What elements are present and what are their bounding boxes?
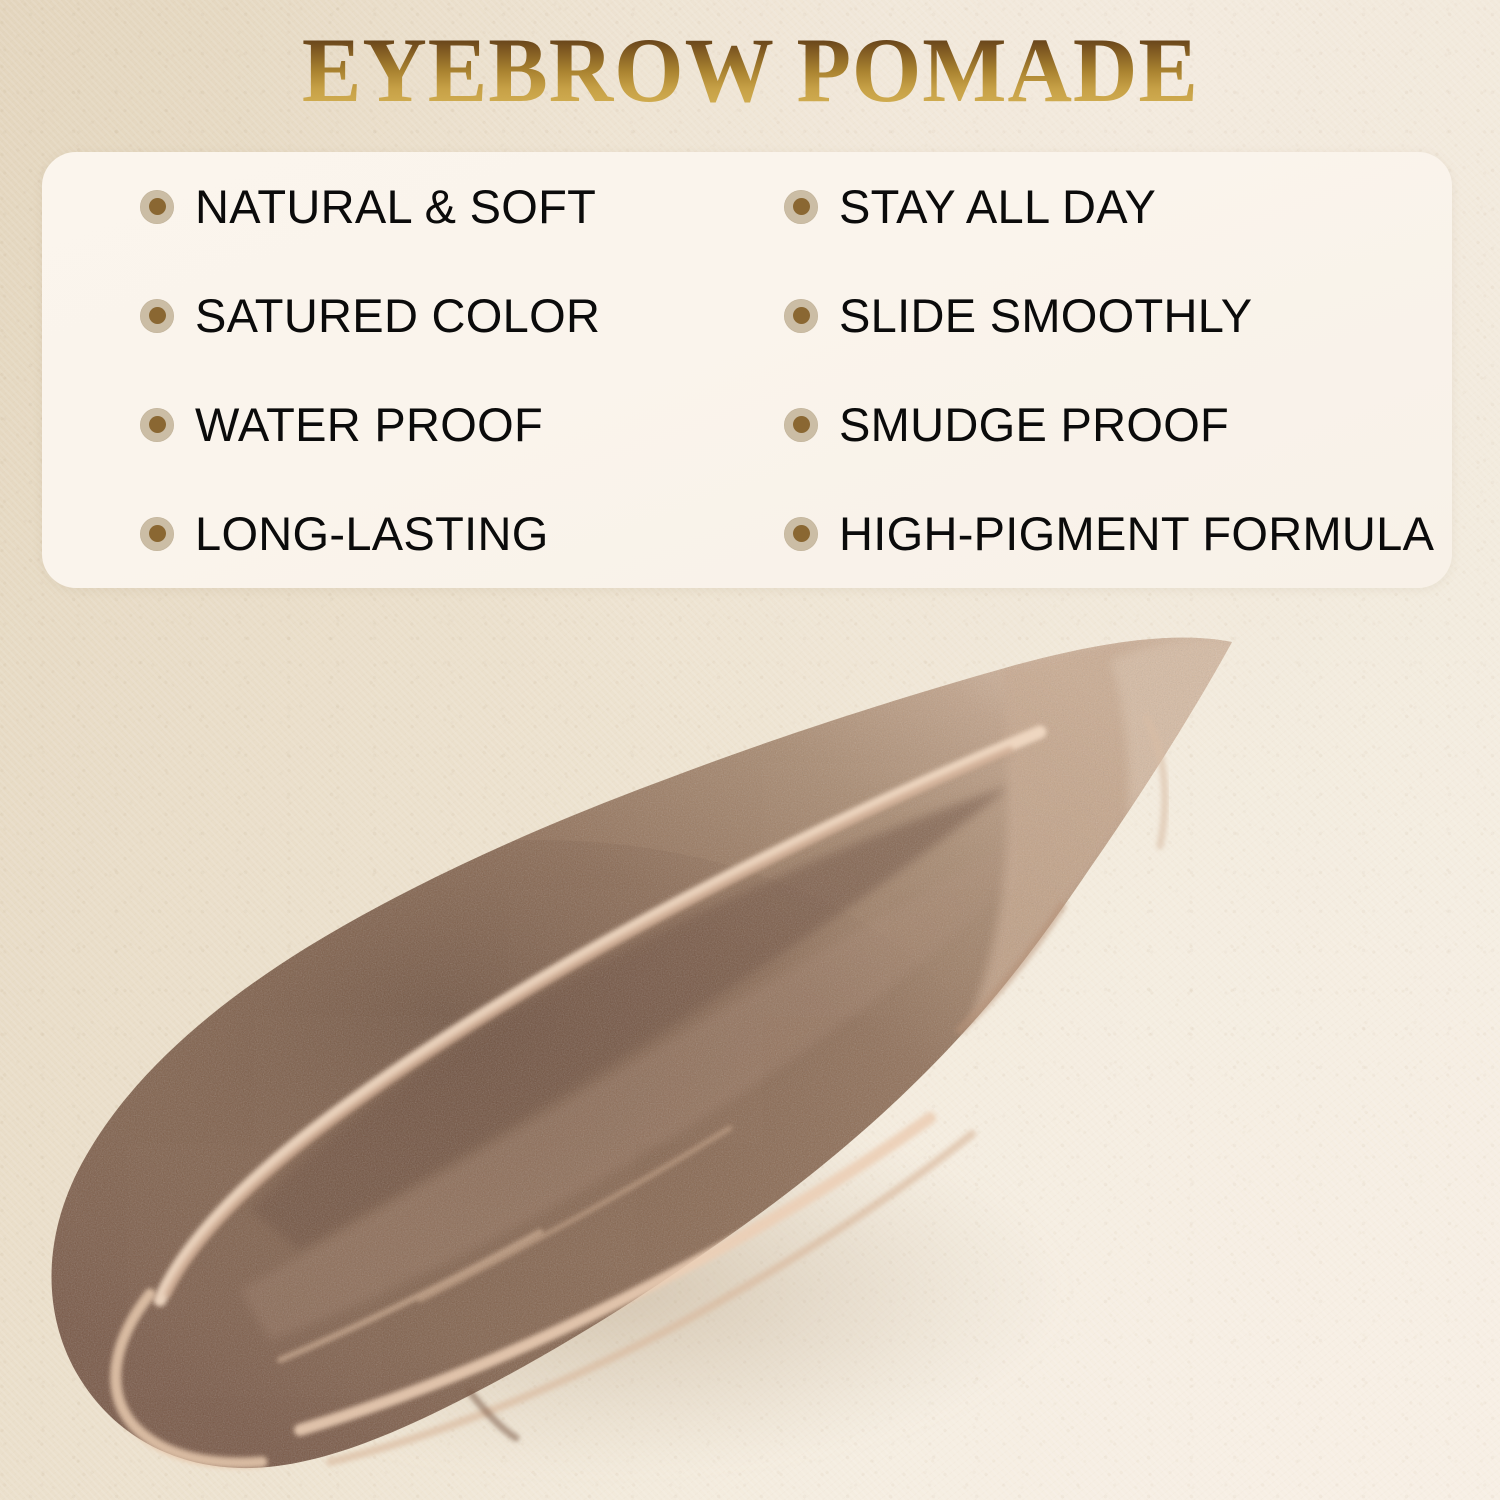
feature-label: SMUDGE PROOF [839, 401, 1229, 448]
bullet-dot-icon [140, 408, 174, 442]
feature-item-long-lasting: LONG-LASTING [42, 479, 732, 588]
feature-label: WATER PROOF [195, 401, 543, 448]
feature-item-natural-and-soft: NATURAL & SOFT [42, 152, 732, 261]
feature-label: SATURED COLOR [195, 292, 600, 339]
feature-label: SLIDE SMOOTHLY [839, 292, 1252, 339]
page-title-container: EYEBROW POMADE [0, 24, 1500, 116]
feature-label: HIGH-PIGMENT FORMULA [839, 510, 1434, 557]
feature-label: STAY ALL DAY [839, 183, 1156, 230]
bullet-dot-icon [784, 299, 818, 333]
feature-item-high-pigment-formula: HIGH-PIGMENT FORMULA [732, 479, 1452, 588]
feature-label: NATURAL & SOFT [195, 183, 596, 230]
product-graphic-canvas: EYEBROW POMADE NATURAL & SOFT STAY ALL D… [0, 0, 1500, 1500]
feature-label: LONG-LASTING [195, 510, 549, 557]
feature-item-slide-smoothly: SLIDE SMOOTHLY [732, 261, 1452, 370]
bullet-dot-icon [784, 190, 818, 224]
product-swatch-area [0, 600, 1500, 1500]
bullet-dot-icon [140, 190, 174, 224]
feature-item-smudge-proof: SMUDGE PROOF [732, 370, 1452, 479]
page-title: EYEBROW POMADE [302, 24, 1199, 116]
bullet-dot-icon [784, 408, 818, 442]
feature-item-satured-color: SATURED COLOR [42, 261, 732, 370]
bullet-dot-icon [784, 517, 818, 551]
feature-grid: NATURAL & SOFT STAY ALL DAY SATURED COLO… [42, 152, 1452, 588]
feature-item-stay-all-day: STAY ALL DAY [732, 152, 1452, 261]
bullet-dot-icon [140, 517, 174, 551]
feature-item-water-proof: WATER PROOF [42, 370, 732, 479]
feature-card: NATURAL & SOFT STAY ALL DAY SATURED COLO… [42, 152, 1452, 588]
pomade-swatch-image [0, 600, 1500, 1500]
bullet-dot-icon [140, 299, 174, 333]
